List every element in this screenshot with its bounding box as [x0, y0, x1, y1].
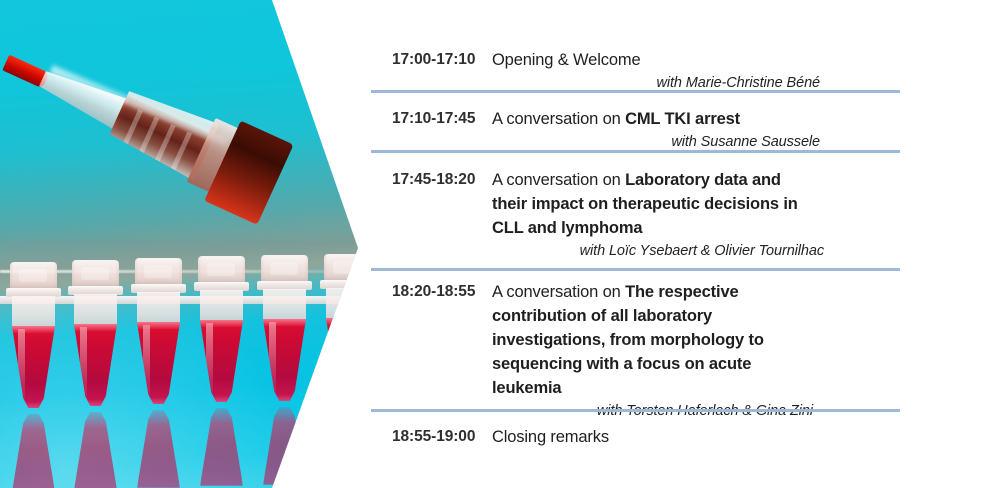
- tube-neck: [326, 288, 360, 320]
- tube-neck: [12, 296, 55, 328]
- agenda-session[interactable]: 18:20-18:55 A conversation on The respec…: [371, 280, 900, 422]
- session-divider: [371, 409, 900, 412]
- tube-neck: [263, 289, 306, 321]
- session-time: 17:45-18:20: [371, 168, 492, 192]
- tube-cap: [324, 254, 360, 282]
- tube-cap: [198, 256, 245, 284]
- pipette-band: [116, 109, 143, 160]
- agenda-session[interactable]: 17:10-17:45 A conversation on CML TKI ar…: [371, 107, 900, 153]
- session-divider: [371, 90, 900, 93]
- session-time: 17:00-17:10: [371, 48, 492, 72]
- session-title: A conversation on CML TKI arrest: [492, 107, 900, 131]
- session-time: 18:20-18:55: [371, 280, 492, 304]
- session-title: A conversation on The respective contrib…: [492, 280, 768, 400]
- session-title: Opening & Welcome: [492, 48, 900, 72]
- session-divider: [371, 268, 900, 271]
- session-time: 18:55-19:00: [371, 425, 492, 449]
- slide-root: 17:00-17:10 Opening & Welcome with Marie…: [0, 0, 1000, 488]
- session-divider: [371, 150, 900, 153]
- tube-liquid: [326, 318, 360, 400]
- agenda-session[interactable]: 17:00-17:10 Opening & Welcome with Marie…: [371, 48, 900, 94]
- session-title: A conversation on Laboratory data and th…: [492, 168, 812, 240]
- tube-neck: [137, 292, 180, 324]
- agenda-session[interactable]: 17:45-18:20 A conversation on Laboratory…: [371, 168, 900, 262]
- tube-cap: [10, 262, 57, 290]
- session-time: 17:10-17:45: [371, 107, 492, 131]
- agenda-session[interactable]: 18:55-19:00 Closing remarks: [371, 425, 900, 449]
- laboratory-photo: [0, 0, 360, 488]
- tube-neck: [74, 294, 117, 326]
- session-title-lead: Opening & Welcome: [492, 51, 640, 69]
- tube-cap: [72, 260, 119, 288]
- session-title-topic: CML TKI arrest: [625, 110, 740, 128]
- tube-reflection: [326, 406, 360, 484]
- session-title: Closing remarks: [492, 425, 900, 449]
- session-title-lead: Closing remarks: [492, 428, 609, 446]
- session-speaker: with Loïc Ysebaert & Olivier Tournilhac: [492, 240, 824, 262]
- agenda-list: 17:00-17:10 Opening & Welcome with Marie…: [371, 0, 900, 488]
- session-title-lead: A conversation on: [492, 283, 625, 301]
- session-title-lead: A conversation on: [492, 171, 625, 189]
- tube-neck: [200, 290, 243, 322]
- session-title-lead: A conversation on: [492, 110, 625, 128]
- tube-cap: [135, 258, 182, 286]
- tube-cap: [261, 255, 308, 283]
